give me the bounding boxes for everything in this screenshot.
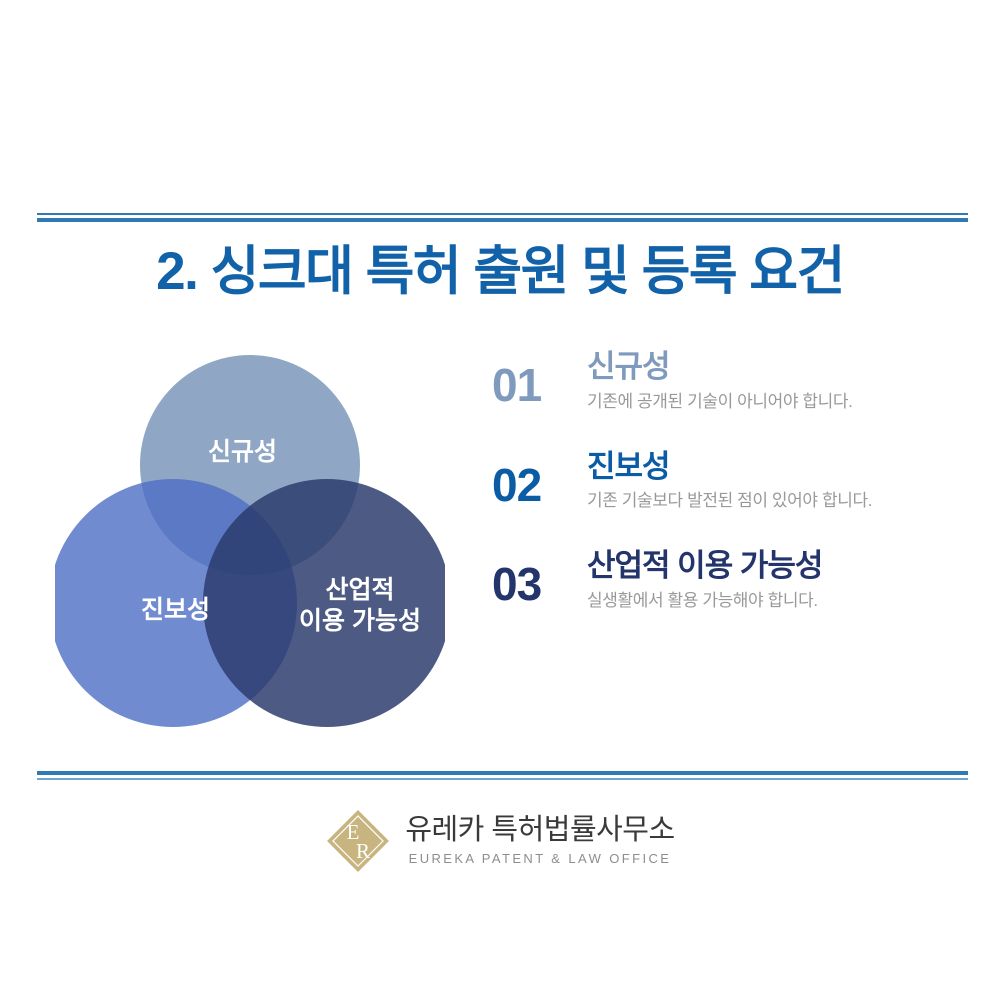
requirements-list: 01 신규성 기존에 공개된 기술이 아니어야 합니다. 02 진보성 기존 기… — [492, 348, 962, 647]
venn-label-inventiveness: 진보성 — [83, 595, 268, 626]
diamond-icon: E R — [325, 808, 391, 874]
requirement-description-03: 실생활에서 활용 가능해야 합니다. — [587, 590, 962, 613]
requirement-body-01: 신규성 기존에 공개된 기술이 아니어야 합니다. — [587, 348, 962, 414]
requirement-body-02: 진보성 기존 기술보다 발전된 점이 있어야 합니다. — [587, 448, 962, 514]
eureka-diamond-logo-icon: E R — [325, 808, 391, 874]
requirement-heading-02: 진보성 — [587, 448, 962, 487]
footer-logo: E R 유레카 특허법률사무소 EUREKA PATENT & LAW OFFI… — [0, 808, 1000, 874]
page-title: 2. 싱크대 특허 출원 및 등록 요건 — [0, 243, 1000, 301]
requirement-body-03: 산업적 이용 가능성 실생활에서 활용 가능해야 합니다. — [587, 547, 962, 613]
divider-bottom-thin-rule — [37, 778, 968, 780]
requirement-number-02: 02 — [492, 448, 587, 508]
requirement-heading-01: 신규성 — [587, 348, 962, 387]
divider-bottom — [37, 771, 968, 780]
slide-canvas: 2. 싱크대 특허 출원 및 등록 요건 신규성 진보성 산업적 이용 가능성 … — [0, 0, 1000, 1000]
firm-name-korean: 유레카 특허법률사무소 — [405, 814, 674, 847]
firm-name-english: EUREKA PATENT & LAW OFFICE — [409, 851, 672, 868]
divider-bottom-thick-rule — [37, 771, 968, 775]
requirement-item-03: 03 산업적 이용 가능성 실생활에서 활용 가능해야 합니다. — [492, 547, 962, 613]
requirement-item-01: 01 신규성 기존에 공개된 기술이 아니어야 합니다. — [492, 348, 962, 414]
footer-logo-text: 유레카 특허법률사무소 EUREKA PATENT & LAW OFFICE — [405, 814, 674, 868]
requirement-item-02: 02 진보성 기존 기술보다 발전된 점이 있어야 합니다. — [492, 448, 962, 514]
divider-top-thick-rule — [37, 218, 968, 222]
venn-diagram: 신규성 진보성 산업적 이용 가능성 — [55, 355, 445, 735]
venn-svg — [55, 355, 445, 735]
venn-label-applicability-line1: 산업적 — [260, 575, 460, 606]
venn-label-novelty: 신규성 — [150, 437, 335, 468]
divider-top — [37, 213, 968, 222]
requirement-number-03: 03 — [492, 547, 587, 607]
requirement-description-02: 기존 기술보다 발전된 점이 있어야 합니다. — [587, 490, 962, 513]
venn-label-applicability-line2: 이용 가능성 — [260, 606, 460, 637]
divider-top-thin-rule — [37, 213, 968, 215]
requirement-number-01: 01 — [492, 348, 587, 408]
monogram-letter-r: R — [356, 839, 370, 863]
requirement-description-01: 기존에 공개된 기술이 아니어야 합니다. — [587, 391, 962, 414]
requirement-heading-03: 산업적 이용 가능성 — [587, 547, 962, 586]
venn-label-applicability: 산업적 이용 가능성 — [260, 575, 460, 638]
